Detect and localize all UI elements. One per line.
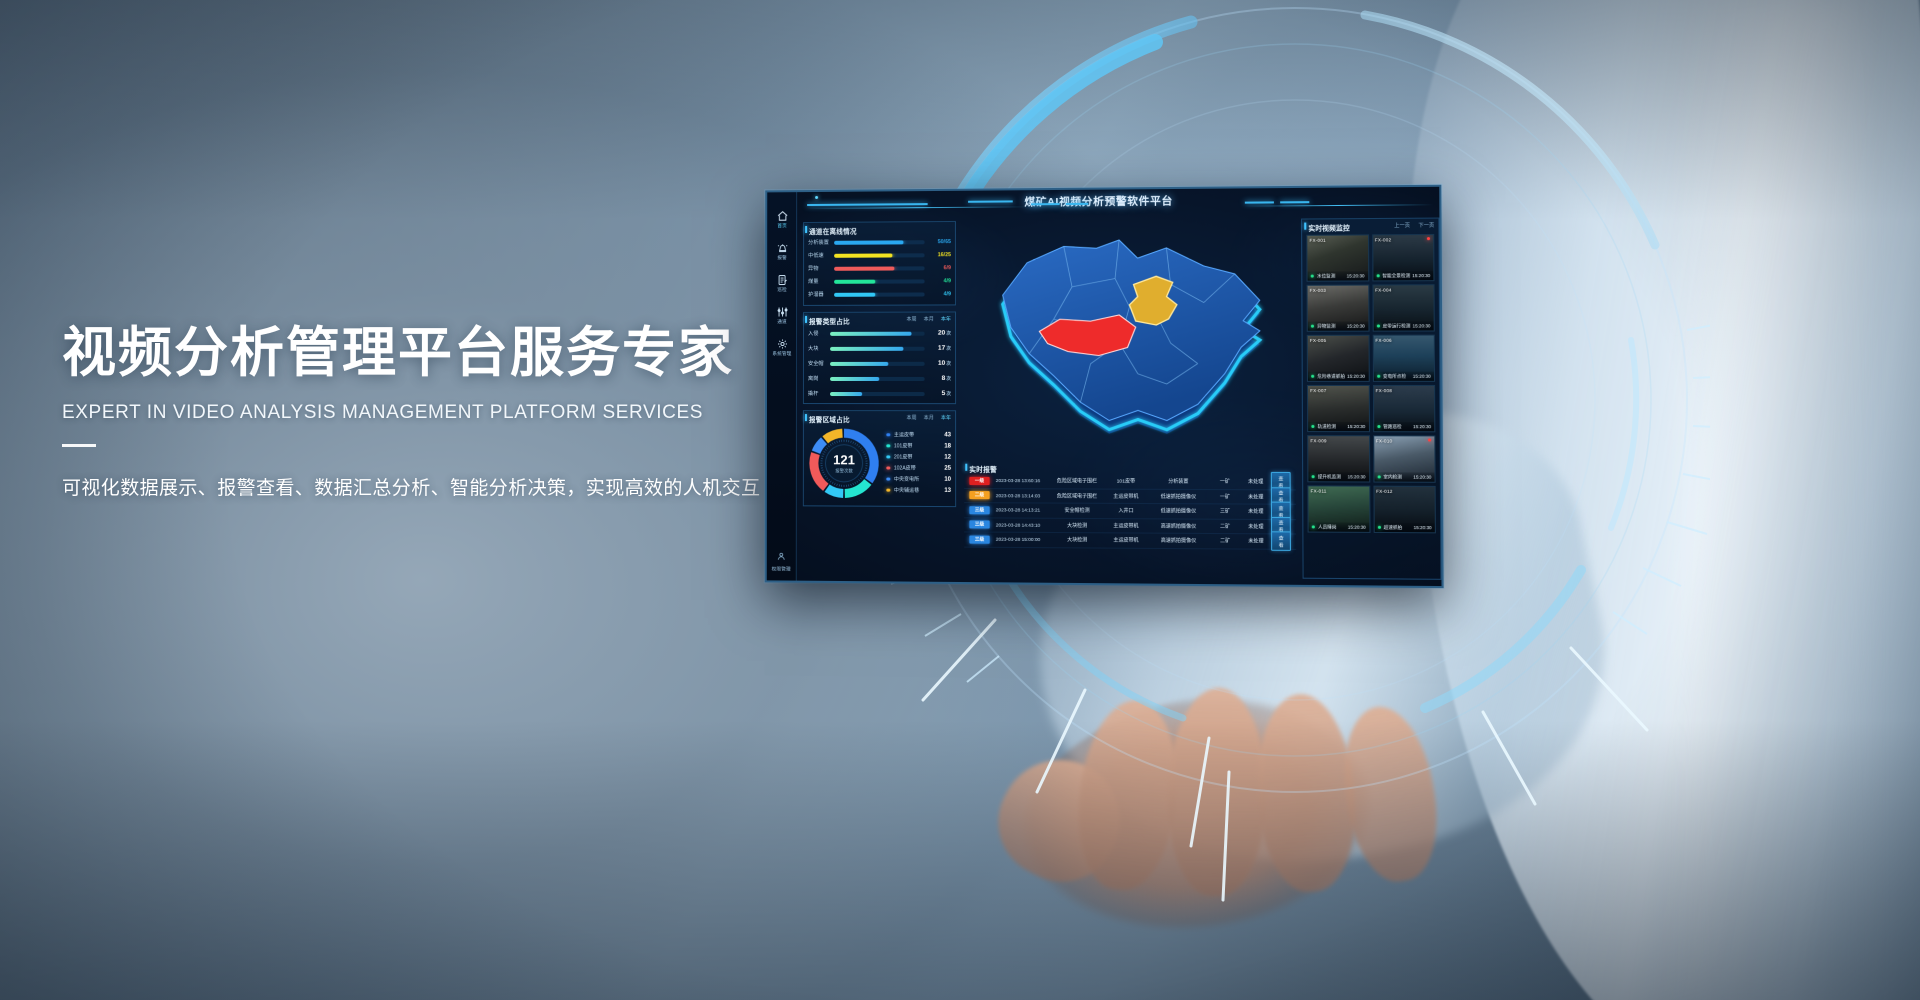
donut-segment[interactable] (845, 482, 868, 494)
video-monitor-panel: 实时视频监控 上一页下一页 FX-001 水位监测 15:20:30 FX-00… (1301, 218, 1441, 580)
video-pager[interactable]: 上一页下一页 (1394, 221, 1434, 228)
alarm-type-row: 安全帽 10次 (804, 356, 955, 371)
channel-row-label: 异物 (808, 265, 834, 272)
channel-row-fill (834, 279, 875, 283)
alarm-type-value: 5次 (925, 390, 951, 397)
alarm-type-title: 报警类型占比 (809, 315, 850, 325)
camera-timestamp: 15:20:30 (1347, 323, 1365, 328)
alarm-area-panel: 报警区域占比 本周本月本年 121 报警次数 主运皮带 43 101皮带 18 … (803, 410, 956, 507)
alarm-type-track (830, 376, 925, 380)
channel-row-value: 6/9 (925, 265, 951, 271)
alarm-area-title: 报警区域占比 (809, 414, 850, 424)
channel-row-fill (834, 253, 892, 257)
alarm-device: 低速抓拍摄像仪 (1147, 493, 1210, 500)
alarm-mine: 一矿 (1210, 493, 1241, 500)
video-panel-title: 实时视频监控 (1308, 222, 1349, 232)
alarm-time: 2023-03-28 14:13:21 (996, 508, 1050, 513)
status-badge: 三级 (969, 521, 989, 529)
dashboard-header: 煤矿AI视频分析预警软件平台 (767, 187, 1439, 219)
camera-name: 人员睡岗 (1318, 524, 1348, 530)
legend-row: 中央变电所 10 (886, 474, 951, 485)
donut-total-label: 报警次数 (835, 468, 853, 474)
alarm-area-tab[interactable]: 本年 (941, 414, 951, 421)
realtime-alarm-panel: 实时报警 一级 2023-03-28 13:60:16 危险区域电子围栏 101… (964, 461, 1296, 581)
camera-name: 危险巷道抓拍 (1317, 373, 1347, 379)
legend-label: 201皮带 (894, 453, 935, 460)
camera-name: 轨道检测 (1318, 423, 1348, 429)
camera-id: FX-004 (1375, 287, 1391, 292)
camera-timestamp: 15:20:30 (1347, 273, 1365, 278)
video-cell-footer: 管路巡检 15:20:30 (1374, 422, 1435, 431)
legend-value: 25 (935, 465, 951, 471)
channel-row-track (834, 266, 925, 270)
hero-description: 可视化数据展示、报警查看、数据汇总分析、智能分析决策，实现高效的人机交互 (62, 473, 882, 500)
video-cell[interactable]: FX-001 水位监测 15:20:30 (1306, 234, 1368, 281)
alarm-type-track (830, 392, 925, 396)
channel-row: 中低速 16/25 (804, 248, 955, 262)
video-cell[interactable]: FX-011 人员睡岗 15:20:30 (1307, 485, 1370, 533)
sidebar-item-permissions[interactable]: 权限管理 (767, 548, 796, 572)
video-cell-footer: 提升机监测 15:20:30 (1308, 472, 1368, 481)
online-status-icon (1311, 275, 1314, 278)
video-cell-footer: 人员睡岗 15:20:30 (1309, 522, 1369, 532)
video-cell-footer: 水位监测 15:20:30 (1308, 271, 1368, 280)
legend-value: 10 (935, 476, 951, 482)
video-cell[interactable]: FX-010 室内检测 15:20:30 (1373, 435, 1436, 483)
alarm-type-fill (830, 331, 911, 335)
alarm-mine: 二矿 (1210, 537, 1241, 544)
alarm-status: 未处理 (1240, 478, 1271, 485)
donut-center: 121 报警次数 (825, 444, 863, 482)
camera-name: 管路巡检 (1383, 423, 1413, 429)
gear-icon (776, 338, 789, 350)
alarm-device: 高速抓拍摄像仪 (1147, 522, 1210, 530)
online-status-icon (1377, 475, 1380, 478)
video-cell[interactable]: FX-008 管路巡检 15:20:30 (1372, 385, 1435, 432)
alarm-mine: 一矿 (1210, 478, 1241, 485)
donut-segment[interactable] (825, 433, 842, 440)
camera-id: FX-009 (1310, 438, 1326, 443)
panel-accent-bar (1304, 223, 1306, 230)
alarm-type: 危险区域电子围栏 (1049, 477, 1104, 484)
realtime-alarm-rows: 一级 2023-03-28 13:60:16 危险区域电子围栏 101皮带 分析… (964, 474, 1296, 550)
camera-timestamp: 15:20:30 (1348, 474, 1366, 479)
camera-timestamp: 15:20:30 (1413, 374, 1431, 379)
alarm-area: 入井口 (1105, 507, 1147, 514)
alarm-device: 高速抓拍摄像仪 (1147, 537, 1210, 545)
status-badge: 二级 (969, 491, 989, 499)
camera-id: FX-003 (1310, 287, 1326, 292)
alarm-type-value: 8次 (925, 375, 951, 382)
alarm-area: 主运皮带机 (1105, 537, 1147, 544)
alarm-area-header: 报警区域占比 本周本月本年 (804, 411, 955, 424)
online-status-icon (1376, 324, 1379, 327)
alarm-area-tab[interactable]: 本月 (924, 414, 934, 421)
sidebar-label-channel: 通道 (767, 319, 797, 325)
alarm-type-track (830, 346, 925, 350)
alarm-mine: 二矿 (1210, 522, 1241, 529)
alarm-actions: 查看 (1271, 531, 1291, 551)
status-badge: 三级 (969, 535, 989, 543)
channel-panel-title: 通道在离线情况 (809, 225, 857, 235)
online-status-icon (1377, 425, 1380, 428)
panel-accent-bar (805, 226, 807, 233)
alarm-area-tabs[interactable]: 本周本月本年 (906, 414, 951, 421)
alarm-type-track (830, 331, 925, 335)
donut-segment[interactable] (816, 441, 824, 452)
camera-timestamp: 15:20:30 (1414, 525, 1432, 530)
camera-id: FX-002 (1375, 237, 1391, 242)
hero-divider (62, 444, 96, 447)
recording-indicator-icon (1427, 237, 1430, 240)
alarm-type-label: 大块 (808, 345, 830, 352)
camera-name: 超速抓拍 (1384, 524, 1414, 530)
header-accent-right1 (1245, 201, 1274, 203)
header-accent-mid3 (1066, 203, 1088, 205)
channel-panel-header: 通道在离线情况 (804, 222, 955, 236)
alarm-type-value: 10次 (925, 360, 951, 367)
sidebar-label-home: 首页 (767, 223, 797, 229)
channel-row-track (834, 292, 925, 296)
legend-dot (886, 488, 890, 492)
status-badge: 三级 (969, 506, 989, 514)
channel-row: 分析装置 50/65 (804, 235, 955, 249)
hero-subhead: EXPERT IN VIDEO ANALYSIS MANAGEMENT PLAT… (62, 402, 882, 424)
donut-segment[interactable] (827, 488, 843, 493)
alarm-status: 未处理 (1240, 523, 1271, 530)
alarm-type: 安全帽检测 (1049, 507, 1104, 514)
alarm-area-tab[interactable]: 本周 (906, 414, 916, 421)
channel-row-value: 4/9 (925, 291, 951, 297)
online-status-icon (1312, 525, 1315, 528)
region-map-svg (966, 221, 1296, 456)
video-panel-header: 实时视频监控 上一页下一页 (1302, 219, 1438, 233)
channel-row-value: 4/9 (925, 278, 951, 284)
legend-row: 中央辅运巷 13 (886, 485, 951, 496)
camera-timestamp: 15:20:30 (1413, 424, 1431, 429)
status-badge: 一级 (969, 477, 989, 485)
camera-timestamp: 15:20:30 (1413, 474, 1431, 479)
video-cell[interactable]: FX-012 超速抓拍 15:20:30 (1373, 486, 1436, 534)
donut-total: 121 (833, 453, 855, 466)
legend-row: 201皮带 12 (886, 451, 951, 462)
legend-value: 43 (935, 432, 951, 438)
alarm-type-fill (830, 392, 862, 396)
legend-row: 101皮带 18 (886, 440, 951, 451)
camera-id: FX-007 (1310, 388, 1326, 393)
legend-label: 主运皮带 (894, 431, 935, 438)
alarm-status: 未处理 (1240, 493, 1271, 500)
alarm-time: 2023-03-28 13:60:16 (996, 478, 1050, 483)
alarm-area: 101皮带 (1105, 478, 1147, 485)
online-status-icon (1311, 325, 1314, 328)
channel-row-track (834, 279, 925, 283)
alarm-type-tab[interactable]: 本周 (906, 315, 916, 322)
alarm-type-row: 撬杆 5次 (804, 386, 955, 401)
legend-value: 12 (935, 454, 951, 460)
camera-name: 提升机监测 (1318, 474, 1348, 480)
alarm-type-panel: 报警类型占比 本周本月本年 入侵 20次 大块 17次 安全帽 10次 离岗 8… (803, 311, 956, 404)
alarm-type-value: 20次 (925, 330, 951, 337)
legend-label: 中央辅运巷 (894, 487, 935, 494)
alarm-type-label: 入侵 (808, 330, 830, 337)
alarm-type-rows: 入侵 20次 大块 17次 安全帽 10次 离岗 8次 撬杆 5次 (804, 326, 955, 402)
alarm-type-track (830, 361, 925, 365)
video-cell[interactable]: FX-005 危险巷道抓拍 15:20:30 (1307, 335, 1370, 382)
legend-dot (886, 433, 890, 437)
alarm-time: 2023-03-28 15:00:00 (996, 537, 1050, 542)
channel-row-fill (834, 292, 875, 296)
sidebar-label-inspection: 巡检 (767, 287, 797, 293)
panel-accent-bar (805, 316, 807, 323)
alarm-area-body: 121 报警次数 主运皮带 43 101皮带 18 201皮带 12 102A皮… (804, 424, 955, 500)
camera-name: 皮带运行检测 (1383, 323, 1413, 329)
header-accent-mid (968, 200, 1013, 202)
camera-timestamp: 15:20:30 (1347, 374, 1365, 379)
video-grid: FX-001 水位监测 15:20:30 FX-002 智能全景检测 15:20… (1302, 232, 1440, 538)
dashboard-sidebar: 首页 报警 巡检 通道 系统管理 (767, 192, 797, 580)
header-accent-right2 (1280, 201, 1309, 203)
online-status-icon (1311, 375, 1314, 378)
alarm-type-fill (830, 376, 879, 380)
channel-row-label: 分析装置 (808, 239, 834, 246)
hero-copy: 视频分析管理平台服务专家 EXPERT IN VIDEO ANALYSIS MA… (62, 322, 882, 500)
table-row[interactable]: 一级 2023-03-28 13:60:16 危险区域电子围栏 101皮带 分析… (964, 474, 1296, 490)
camera-timestamp: 15:20:30 (1412, 273, 1430, 278)
video-cell-footer: 皮带运行检测 15:20:30 (1373, 321, 1434, 330)
legend-value: 18 (935, 443, 951, 449)
sidebar-item-system[interactable]: 系统管理 (767, 338, 797, 357)
camera-id: FX-010 (1376, 438, 1392, 443)
sidebar-label-alarm: 报警 (767, 255, 797, 261)
online-status-icon (1377, 375, 1380, 378)
alarm-status: 未处理 (1241, 538, 1272, 545)
video-cell[interactable]: FX-009 提升机监测 15:20:30 (1307, 435, 1370, 482)
alarm-type-tab[interactable]: 本月 (924, 315, 934, 322)
camera-id: FX-008 (1376, 388, 1392, 393)
camera-id: FX-005 (1310, 337, 1326, 342)
channel-row: 护溜器 4/9 (804, 287, 955, 301)
legend-label: 102A皮带 (894, 464, 935, 471)
table-row[interactable]: 二级 2023-03-28 13:14:03 危险区域电子围栏 主运皮带机 低速… (964, 488, 1296, 504)
legend-value: 13 (935, 487, 951, 493)
header-dot (815, 196, 818, 199)
channel-icon (776, 306, 789, 318)
video-cell[interactable]: FX-006 变电所点检 15:20:30 (1372, 335, 1435, 382)
panel-accent-bar (805, 414, 807, 421)
video-cell-footer: 室内检测 15:20:30 (1374, 472, 1435, 481)
video-cell[interactable]: FX-002 智能全景检测 15:20:30 (1372, 234, 1435, 281)
sidebar-item-alarm[interactable]: 报警 (767, 242, 797, 261)
camera-id: FX-006 (1375, 337, 1391, 342)
region-map[interactable] (966, 221, 1296, 456)
camera-name: 水位监测 (1317, 273, 1347, 279)
alarm-icon (776, 242, 789, 254)
alarm-area-legend: 主运皮带 43 101皮带 18 201皮带 12 102A皮带 25 中央变电… (880, 427, 951, 500)
sidebar-item-inspection[interactable]: 巡检 (767, 274, 797, 293)
alarm-device: 分析装置 (1147, 478, 1210, 485)
realtime-alarm-header: 实时报警 (964, 461, 1296, 475)
video-cell[interactable]: FX-007 轨道检测 15:20:30 (1307, 385, 1370, 432)
channel-row-fill (834, 240, 904, 244)
alarm-status: 未处理 (1240, 508, 1271, 515)
alarm-type-tabs[interactable]: 本周本月本年 (906, 315, 951, 322)
online-status-icon (1311, 425, 1314, 428)
legend-dot (886, 444, 890, 448)
sidebar-item-home[interactable]: 首页 (767, 210, 797, 229)
camera-id: FX-001 (1309, 237, 1325, 242)
panel-accent-bar (965, 464, 967, 471)
channel-row-label: 中低速 (808, 252, 834, 259)
alarm-type: 危险区域电子围栏 (1049, 492, 1104, 499)
alarm-type-fill (830, 361, 889, 365)
camera-timestamp: 15:20:30 (1347, 424, 1365, 429)
sidebar-item-channel[interactable]: 通道 (767, 306, 797, 325)
table-row[interactable]: 三级 2023-03-28 15:00:00 大块检测 主运皮带机 高速抓拍摄像… (964, 532, 1296, 549)
alarm-type-tab[interactable]: 本年 (941, 315, 951, 322)
online-status-icon (1376, 274, 1379, 277)
camera-timestamp: 15:20:30 (1413, 323, 1431, 328)
inspection-icon (776, 274, 789, 286)
channel-row-track (834, 240, 925, 245)
legend-row: 主运皮带 43 (886, 429, 951, 440)
online-status-icon (1377, 526, 1380, 529)
alarm-type-label: 撬杆 (808, 390, 830, 397)
video-pager-button[interactable]: 下一页 (1418, 221, 1434, 228)
channel-rows: 分析装置 50/65 中低速 16/25 异物 6/9 煤量 4/9 护溜器 4… (804, 235, 955, 301)
channel-row-track (834, 253, 925, 258)
channel-online-panel: 通道在离线情况 分析装置 50/65 中低速 16/25 异物 6/9 煤量 4… (803, 221, 956, 306)
alarm-type-fill (830, 346, 904, 350)
alarm-type-row: 入侵 20次 (804, 326, 955, 341)
channel-row: 煤量 4/9 (804, 274, 955, 288)
channel-row-fill (834, 266, 895, 270)
legend-row: 102A皮带 25 (886, 462, 951, 473)
alarm-type-header: 报警类型占比 本周本月本年 (804, 312, 955, 325)
sidebar-label-system: 系统管理 (767, 351, 797, 357)
donut-segment[interactable] (814, 454, 826, 488)
alarm-type-row: 大块 17次 (804, 341, 955, 356)
video-cell[interactable]: FX-003 异物监测 15:20:30 (1307, 285, 1369, 332)
recording-indicator-icon (1428, 438, 1431, 441)
alarm-time: 2023-03-28 13:14:03 (996, 493, 1050, 498)
camera-id: FX-011 (1311, 488, 1327, 493)
page-title: 视频分析管理平台服务专家 (62, 322, 882, 386)
alarm-type: 大块检测 (1049, 522, 1105, 529)
channel-row-value: 16/25 (925, 252, 951, 258)
video-cell-footer: 变电所点检 15:20:30 (1373, 372, 1434, 381)
camera-name: 变电所点检 (1383, 373, 1413, 379)
view-button[interactable]: 查看 (1271, 531, 1291, 551)
camera-name: 室内检测 (1383, 474, 1413, 480)
video-cell-footer: 智能全景检测 15:20:30 (1373, 271, 1434, 281)
channel-row-value: 50/65 (925, 239, 951, 245)
alarm-area: 主运皮带机 (1105, 522, 1147, 529)
camera-id: FX-012 (1376, 488, 1392, 493)
legend-dot (886, 466, 890, 470)
sidebar-label-permissions: 权限管理 (767, 566, 796, 572)
user-icon (776, 551, 787, 561)
dashboard-screen: 煤矿AI视频分析预警软件平台 首页 报警 巡检 (765, 185, 1444, 588)
legend-label: 101皮带 (894, 442, 935, 449)
camera-name: 智能全景检测 (1382, 273, 1412, 279)
video-cell[interactable]: FX-004 皮带运行检测 15:20:30 (1372, 284, 1435, 331)
video-pager-button[interactable]: 上一页 (1394, 221, 1410, 228)
video-cell-footer: 危险巷道抓拍 15:20:30 (1308, 372, 1368, 381)
alarm-type: 大块检测 (1049, 536, 1105, 543)
camera-timestamp: 15:20:30 (1348, 525, 1366, 530)
alarm-type-label: 安全帽 (808, 360, 830, 367)
video-cell-footer: 异物监测 15:20:30 (1308, 321, 1368, 330)
home-icon (776, 210, 789, 222)
alarm-device: 低速抓拍摄像仪 (1147, 507, 1210, 514)
channel-row: 异物 6/9 (804, 261, 955, 275)
video-cell-footer: 超速抓拍 15:20:30 (1374, 523, 1435, 533)
header-accent-mid2 (1031, 203, 1060, 205)
legend-dot (886, 477, 890, 481)
realtime-alarm-title: 实时报警 (969, 463, 997, 473)
alarm-type-value: 17次 (925, 345, 951, 352)
alarm-type-row: 离岗 8次 (804, 371, 955, 386)
legend-dot (886, 455, 890, 459)
channel-row-label: 煤量 (808, 278, 834, 285)
alarm-type-label: 离岗 (808, 375, 830, 382)
camera-name: 异物监测 (1317, 323, 1347, 329)
alarm-area-donut[interactable]: 121 报警次数 (808, 427, 880, 500)
video-cell-footer: 轨道检测 15:20:30 (1308, 422, 1368, 431)
map-region-yellow[interactable] (1129, 276, 1177, 325)
alarm-mine: 三矿 (1210, 508, 1241, 515)
alarm-time: 2023-03-28 14:43:10 (996, 522, 1050, 527)
legend-label: 中央变电所 (894, 476, 935, 483)
alarm-area: 主运皮带机 (1105, 492, 1147, 499)
channel-row-label: 护溜器 (808, 291, 834, 298)
online-status-icon (1312, 475, 1315, 478)
